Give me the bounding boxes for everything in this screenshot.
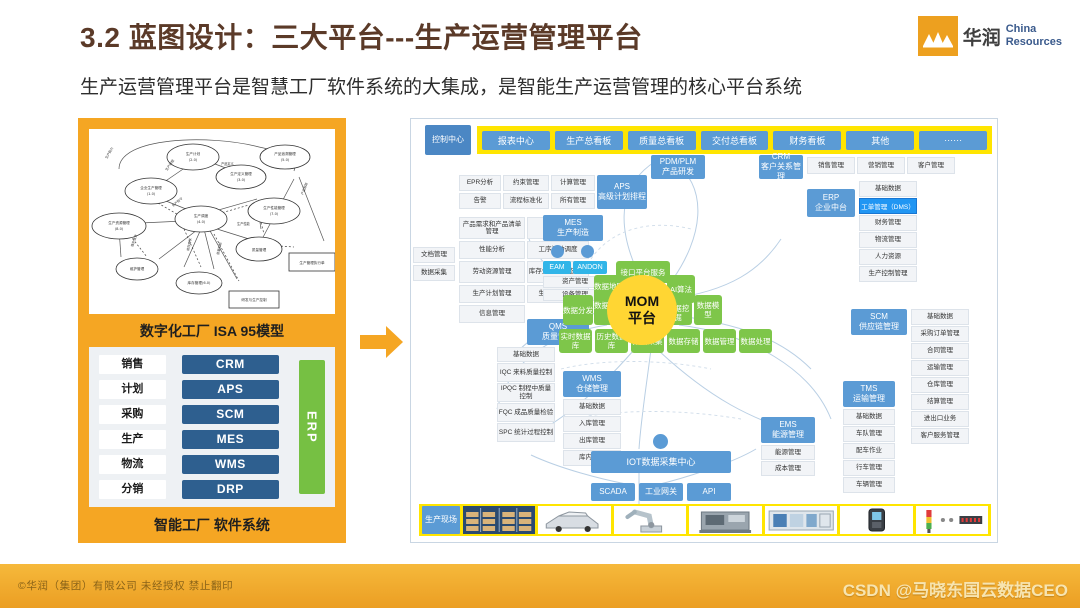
left-main-item-8[interactable]: 信息管理 [459,305,525,323]
flow-arrow-icon [360,325,404,364]
qms-item-4[interactable]: SPC 统计过程控制 [497,423,555,442]
module-head-erp[interactable]: ERP企业中台 [807,189,855,217]
left-side-data-collect[interactable]: 数据采集 [413,265,455,281]
qms-item-1[interactable]: IQC 来料质量控制 [497,363,555,382]
svg-text:生产性能管理: 生产性能管理 [263,205,285,210]
green-data-model[interactable]: 数据模型 [694,295,722,325]
svg-text:(3.0): (3.0) [237,178,246,182]
wms-item-2[interactable]: 出库管理 [563,433,621,449]
qms-item-3[interactable]: FQC 成品质量检验 [497,403,555,422]
function-purchase: 采购 [99,405,166,424]
scm-item-4[interactable]: 仓库管理 [911,377,969,393]
svg-text:库存管理(6.0): 库存管理(6.0) [188,280,211,285]
control-dashboard-bar: 报表中心 生产总看板 质量总看板 交付总看板 财务看板 其他 ······ [477,126,992,154]
logo-english-name: ChinaResources [1006,23,1062,48]
function-plan: 计划 [99,380,166,399]
ctrl-production-board[interactable]: 生产总看板 [555,131,623,150]
system-wms: WMS [182,455,279,474]
left-top-item-4[interactable]: 流程标准化 [503,193,549,209]
scm-item-7[interactable]: 客户服务管理 [911,428,969,444]
mom-platform-architecture-diagram: 控制中心 报表中心 生产总看板 质量总看板 交付总看板 财务看板 其他 ····… [410,118,998,543]
iot-source-scada[interactable]: SCADA [591,483,635,501]
erp-column: ERP [299,355,325,499]
control-center-badge[interactable]: 控制中心 [425,125,471,155]
left-main-item-6[interactable]: 生产计划管理 [459,285,525,303]
green-data-manage[interactable]: 数据管理 [703,329,736,353]
left-top-item-3[interactable]: 告警 [459,193,501,209]
function-column: 销售 计划 采购 生产 物流 分销 [99,355,166,499]
page-subtitle: 生产运营管理平台是智慧工厂软件系统的大集成，是智能生产运营管理的核心平台系统 [80,72,802,99]
module-head-crm[interactable]: CRM客户关系管理 [759,155,803,179]
system-crm: CRM [182,355,279,374]
tms-item-4[interactable]: 车辆管理 [843,477,895,493]
left-main-item-4[interactable]: 劳动资源管理 [459,261,525,283]
system-drp: DRP [182,480,279,499]
svg-text:生产资源管理: 生产资源管理 [108,220,130,225]
green-realtime-db[interactable]: 实时数据库 [559,329,592,353]
scm-item-6[interactable]: 进出口业务 [911,411,969,427]
ctrl-more[interactable]: ······ [919,131,987,150]
wms-item-1[interactable]: 入库管理 [563,416,621,432]
slide-footer: ©华润（集团）有限公司 未经授权 禁止翻印 CSDN @马晓东国云数据CEO [0,564,1080,608]
scm-item-2[interactable]: 合同管理 [911,343,969,359]
agv-cart-photo [538,506,610,534]
iot-source-gateway[interactable]: 工业网关 [639,483,683,501]
system-scm: SCM [182,405,279,424]
svg-text:生产管理执行单: 生产管理执行单 [299,260,325,265]
function-distribution: 分销 [99,480,166,499]
svg-text:(4.0): (4.0) [197,220,206,224]
module-head-ems[interactable]: EMS能源管理 [761,417,815,443]
module-head-wms[interactable]: WMS仓储管理 [563,371,621,397]
system-column: CRM APS SCM MES WMS DRP [182,355,279,499]
csdn-watermark: CSDN @马晓东国云数据CEO [843,576,1068,601]
svg-text:生产计划: 生产计划 [186,151,201,156]
function-logistics: 物流 [99,455,166,474]
left-top-item-1[interactable]: 约束管理 [503,175,549,191]
green-data-process[interactable]: 数据处理 [739,329,772,353]
wms-item-0[interactable]: 基础数据 [563,399,621,415]
module-head-mes[interactable]: MES生产制造 [543,215,603,241]
tms-item-1[interactable]: 车队管理 [843,426,895,442]
svg-text:研发与生产控制: 研发与生产控制 [241,297,267,302]
mom-platform-center[interactable]: MOM 平台 [607,275,677,345]
warehouse-racks-photo [463,506,535,534]
svg-text:企业生产管理: 企业生产管理 [140,185,162,190]
system-mes: MES [182,430,279,449]
handheld-terminal-photo [840,506,912,534]
erp-bar: ERP [299,360,325,494]
left-top-item-5[interactable]: 所有管理 [551,193,595,209]
function-production: 生产 [99,430,166,449]
erp-item-3[interactable]: 物流管理 [859,232,917,248]
svg-text:(1.0): (1.0) [147,192,156,196]
left-main-item-0[interactable]: 产品需求和产品清单管理 [459,217,525,239]
iot-source-api[interactable]: API [687,483,731,501]
mes-item-andon[interactable]: ANDON [573,261,607,274]
isa95-model-diagram: 生产计划(2.0) 产品追溯管理(5.0) 生产定义管理(3.0) 企业生产管理… [89,129,335,314]
company-logo: 华润 ChinaResources [918,16,1062,56]
svg-text:产品追溯管理: 产品追溯管理 [274,151,296,156]
module-head-pdm-plm[interactable]: PDM/PLM产品研发 [651,155,705,179]
tms-item-3[interactable]: 行车管理 [843,460,895,476]
mes-node-dot-1 [551,245,564,258]
ctrl-quality-board[interactable]: 质量总看板 [628,131,696,150]
mes-node-dot-2 [581,245,594,258]
ctrl-finance-board[interactable]: 财务看板 [773,131,841,150]
left-main-item-2[interactable]: 性能分析 [459,241,525,259]
logo-chinese-name: 华润 [963,23,1001,50]
erp-item-0[interactable]: 基础数据 [859,181,917,197]
green-data-storage[interactable]: 数据存储 [667,329,700,353]
svg-text:生产定义管理: 生产定义管理 [230,171,252,176]
module-head-aps[interactable]: APS高级计划排程 [597,175,647,209]
scm-item-5[interactable]: 结算管理 [911,394,969,410]
crm-item-sales[interactable]: 销售管理 [807,157,855,174]
scm-item-1[interactable]: 采购订单管理 [911,326,969,342]
module-head-scm[interactable]: SCM供应链管理 [851,309,907,335]
production-line-photo [765,506,837,534]
system-aps: APS [182,380,279,399]
svg-text:质量检验: 质量检验 [215,241,223,255]
left-top-item-0[interactable]: EPR分析 [459,175,501,191]
production-floor-strip: 生产现场 [419,504,991,536]
ems-item-1[interactable]: 成本管理 [761,461,815,476]
svg-text:产品跟踪: 产品跟踪 [299,181,309,195]
iot-node-dot [653,434,668,449]
mes-item-eam[interactable]: EAM [543,261,571,274]
svg-text:库存需求: 库存需求 [185,237,193,251]
svg-text:质量管理: 质量管理 [252,247,267,252]
andon-light-photo [916,506,988,534]
green-data-distribute[interactable]: 数据分发 [563,295,593,325]
page-title: 3.2 蓝图设计：三大平台---生产运营管理平台 [80,16,643,56]
copyright-text: ©华润（集团）有限公司 未经授权 禁止翻印 [18,578,233,593]
ems-item-0[interactable]: 能源管理 [761,445,815,460]
ctrl-report-center[interactable]: 报表中心 [482,131,550,150]
erp-item-2[interactable]: 财务管理 [859,215,917,231]
svg-text:(8.0): (8.0) [115,227,124,231]
erp-item-1-highlighted[interactable]: 工单管理（DMS） [859,198,917,214]
tms-item-2[interactable]: 配车作业 [843,443,895,459]
scm-item-0[interactable]: 基础数据 [911,309,969,325]
left-top-item-2[interactable]: 计算管理 [551,175,595,191]
production-floor-label: 生产现场 [422,506,460,534]
erp-item-4[interactable]: 人力资源 [859,249,917,265]
cnc-machine-photo [689,506,761,534]
svg-text:生产能力: 生产能力 [104,146,115,160]
ctrl-delivery-board[interactable]: 交付总看板 [701,131,769,150]
robot-arm-photo [614,506,686,534]
scm-item-3[interactable]: 运输管理 [911,360,969,376]
left-reference-panel: 生产计划(2.0) 产品追溯管理(5.0) 生产定义管理(3.0) 企业生产管理… [78,118,346,543]
svg-text:(5.0): (5.0) [281,158,290,162]
ctrl-other[interactable]: 其他 [846,131,914,150]
tms-item-0[interactable]: 基础数据 [843,409,895,425]
svg-text:(7.0): (7.0) [270,212,279,216]
iot-data-collection-center[interactable]: IOT数据采集中心 [591,451,731,473]
svg-text:维护管理: 维护管理 [130,266,145,271]
china-resources-mark-icon [918,16,958,56]
svg-text:(2.0): (2.0) [189,158,198,162]
svg-text:生产性能: 生产性能 [237,221,251,226]
crm-item-customer[interactable]: 客户管理 [907,157,955,174]
module-head-tms[interactable]: TMS运输管理 [843,381,895,407]
erp-item-5[interactable]: 生产控制管理 [859,266,917,282]
svg-text:生产调度: 生产调度 [194,213,209,218]
smart-factory-software-diagram: 销售 计划 采购 生产 物流 分销 CRM APS SCM MES WMS DR… [89,347,335,507]
smart-factory-caption: 智能工厂 软件系统 [89,507,335,535]
function-sales: 销售 [99,355,166,374]
qms-item-2[interactable]: IPQC 制程中质量控制 [497,383,555,402]
crm-item-marketing[interactable]: 营销管理 [857,157,905,174]
qms-item-0[interactable]: 基础数据 [497,347,555,362]
isa95-caption: 数字化工厂 ISA 95模型 [89,314,335,347]
left-side-doc-mgmt[interactable]: 文档管理 [413,247,455,263]
svg-text:产品定义: 产品定义 [221,161,235,166]
